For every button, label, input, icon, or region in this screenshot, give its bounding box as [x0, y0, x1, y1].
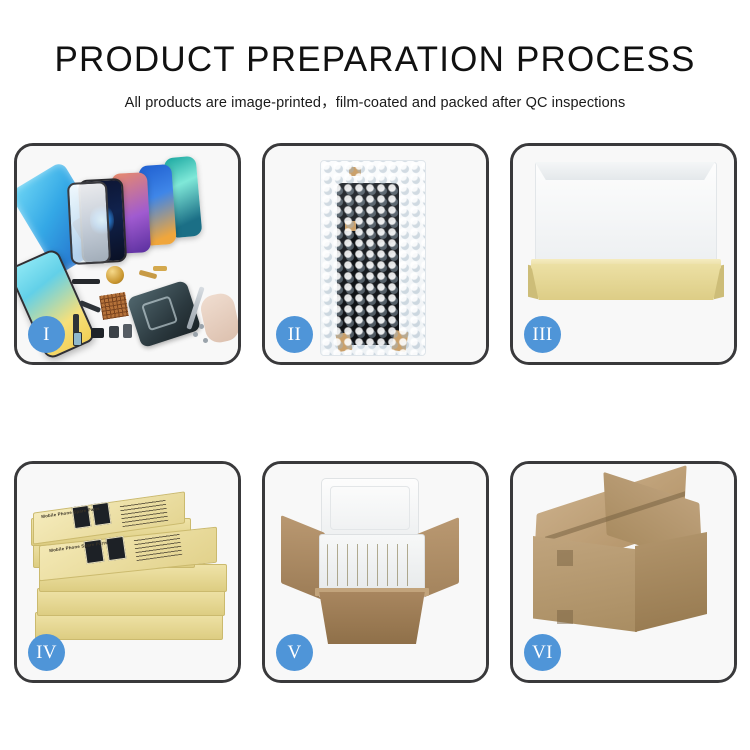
step-badge-3: III [524, 316, 561, 353]
flex-cable-icon [139, 270, 158, 279]
process-step-card-2[interactable]: II [262, 143, 489, 365]
process-steps-grid: I II [14, 143, 737, 683]
chip-icon [123, 324, 132, 338]
box-layer-icon [37, 588, 225, 616]
process-step-card-5[interactable]: V [262, 461, 489, 683]
screw-icon [203, 338, 208, 343]
page-header: PRODUCT PREPARATION PROCESS All products… [0, 0, 750, 112]
sim-tray-icon [73, 332, 82, 346]
chip-icon [91, 328, 104, 338]
carton-tape-icon [557, 610, 573, 624]
page-title: PRODUCT PREPARATION PROCESS [0, 42, 750, 77]
bubble-texture-icon [321, 161, 425, 355]
tempered-glass-icon [67, 181, 111, 265]
yellow-box-body-icon [531, 264, 721, 300]
gold-component-icon [106, 266, 124, 284]
process-step-card-6[interactable]: VI [510, 461, 737, 683]
product-preparation-process-page: PRODUCT PREPARATION PROCESS All products… [0, 0, 750, 750]
screw-icon [193, 332, 198, 337]
flex-cable-icon [153, 266, 167, 271]
process-step-card-4[interactable]: Mobile Phone Spare Parts Mobile Phone Sp… [14, 461, 241, 683]
step-badge-6: VI [524, 634, 561, 671]
box-stack-icon: Mobile Phone Spare Parts Mobile Phone Sp… [29, 480, 231, 666]
box-lid-fold-icon [535, 162, 715, 180]
carton-side-face-icon [635, 532, 707, 632]
chip-icon [109, 326, 119, 338]
box-print-screen-icon [105, 536, 126, 561]
yellow-boxes-inside-icon [327, 544, 415, 586]
foam-lid-icon [321, 478, 419, 538]
copper-grid-icon [99, 292, 128, 320]
carton-front-face-icon [533, 536, 637, 632]
carton-body-icon [317, 592, 427, 644]
bubble-wrap-bag-icon [320, 160, 426, 356]
flex-cable-icon [73, 314, 79, 334]
carton-tape-icon [557, 550, 573, 566]
step-badge-4: IV [28, 634, 65, 671]
hand-icon [198, 291, 238, 345]
screw-icon [199, 324, 204, 329]
step-badge-5: V [276, 634, 313, 671]
box-layer-icon [35, 612, 223, 640]
process-step-card-3[interactable]: III [510, 143, 737, 365]
process-step-card-1[interactable]: I [14, 143, 241, 365]
speaker-bar-icon [72, 279, 100, 284]
step-badge-1: I [28, 316, 65, 353]
step-badge-2: II [276, 316, 313, 353]
page-subtitle: All products are image-printed，film-coat… [0, 91, 750, 112]
